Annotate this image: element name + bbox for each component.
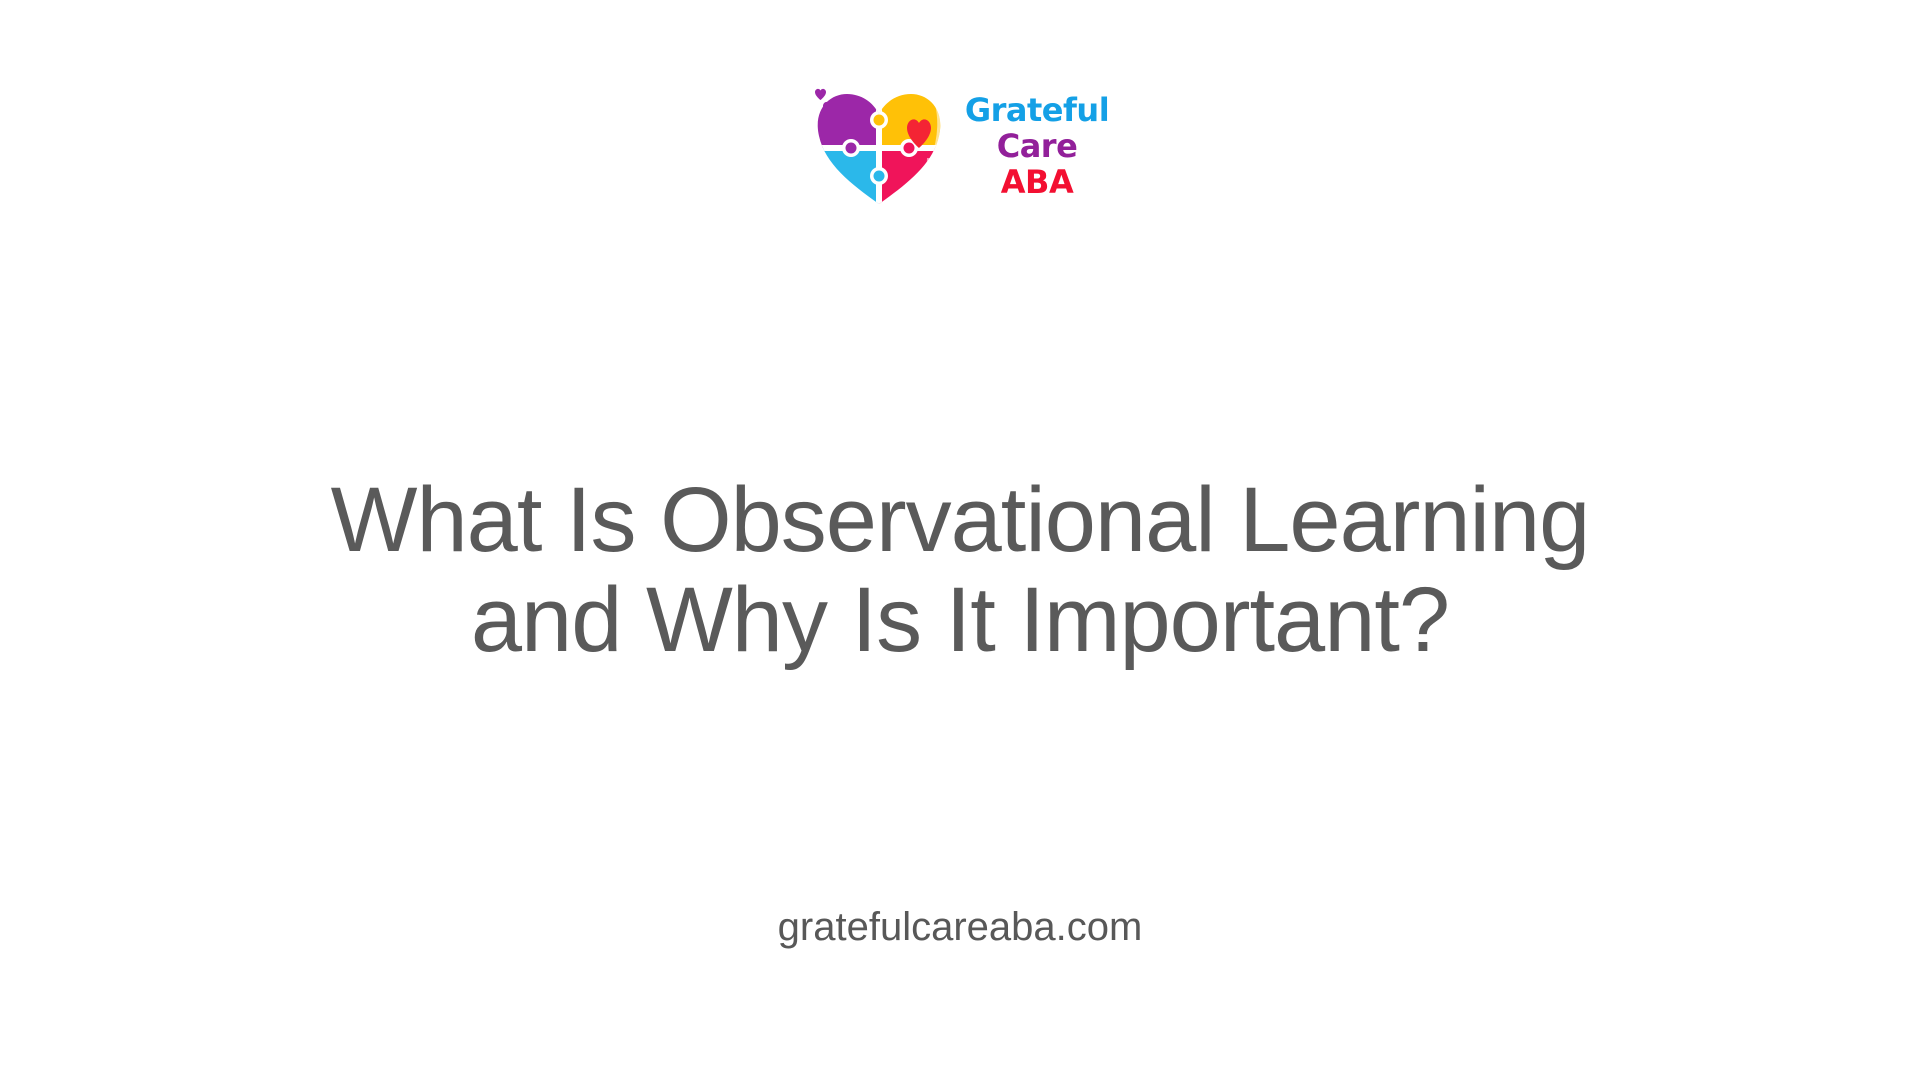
logo-wordmark: Grateful Care ABA: [965, 94, 1109, 200]
logo-word-grateful: Grateful: [965, 94, 1109, 126]
logo-inner: Grateful Care ABA: [811, 86, 1109, 208]
article-header-card: Grateful Care ABA What Is Observational …: [0, 0, 1920, 1080]
logo-word-aba: ABA: [1001, 166, 1073, 198]
page-title-line-2: and Why Is It Important?: [0, 570, 1920, 670]
page-title: What Is Observational Learning and Why I…: [0, 470, 1920, 671]
heart-puzzle-icon: [811, 86, 947, 208]
page-title-line-1: What Is Observational Learning: [0, 470, 1920, 570]
footer: gratefulcareaba.com: [0, 905, 1920, 950]
website-url[interactable]: gratefulcareaba.com: [778, 905, 1143, 949]
logo-word-care: Care: [997, 130, 1078, 162]
brand-logo[interactable]: Grateful Care ABA: [0, 86, 1920, 208]
